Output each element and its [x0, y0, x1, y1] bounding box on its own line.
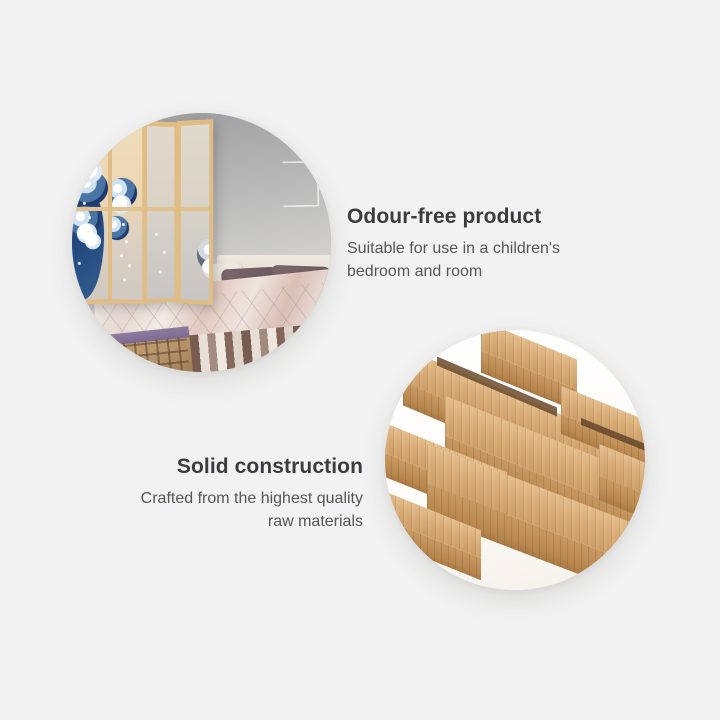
feature-solid-construction-subline-line-1: Crafted from the highest quality: [141, 490, 363, 507]
stacked-timber-beams-photo: [385, 330, 645, 590]
great-wave-print-section-2: [111, 125, 142, 299]
great-wave-print-section-1: [72, 124, 108, 301]
feature-odour-free-subline-line-1: Suitable for use in a children's: [347, 240, 560, 257]
great-wave-print-section-4: [181, 124, 209, 300]
feature-odour-free-subline-line-2: bedroom and room: [347, 263, 482, 280]
feature-odour-free-text-block: Odour-free product Suitable for use in a…: [347, 205, 597, 284]
bedroom-with-folding-screen-photo: [72, 113, 331, 372]
infographic-canvas: Odour-free product Suitable for use in a…: [0, 0, 720, 720]
bedroom-photo-inner: [72, 113, 331, 372]
feature-solid-construction-subline-line-2: raw materials: [268, 513, 363, 530]
feature-odour-free-headline: Odour-free product: [347, 205, 597, 229]
divider-panel-2: [107, 120, 146, 304]
feature-solid-construction-text-block: Solid construction Crafted from the high…: [103, 455, 363, 534]
great-wave-print-section-3: [147, 126, 175, 299]
divider-panel-1: [72, 119, 112, 305]
feature-odour-free-subline: Suitable for use in a children's bedroom…: [347, 238, 597, 283]
wall-picture-frame: [283, 161, 320, 208]
divider-panel-4: [177, 119, 213, 305]
feature-solid-construction-headline: Solid construction: [103, 455, 363, 479]
divider-panel-3: [143, 121, 178, 303]
timber-photo-inner: [385, 330, 645, 590]
folding-room-divider-screen: [72, 121, 213, 303]
feature-solid-construction-subline: Crafted from the highest quality raw mat…: [103, 488, 363, 533]
